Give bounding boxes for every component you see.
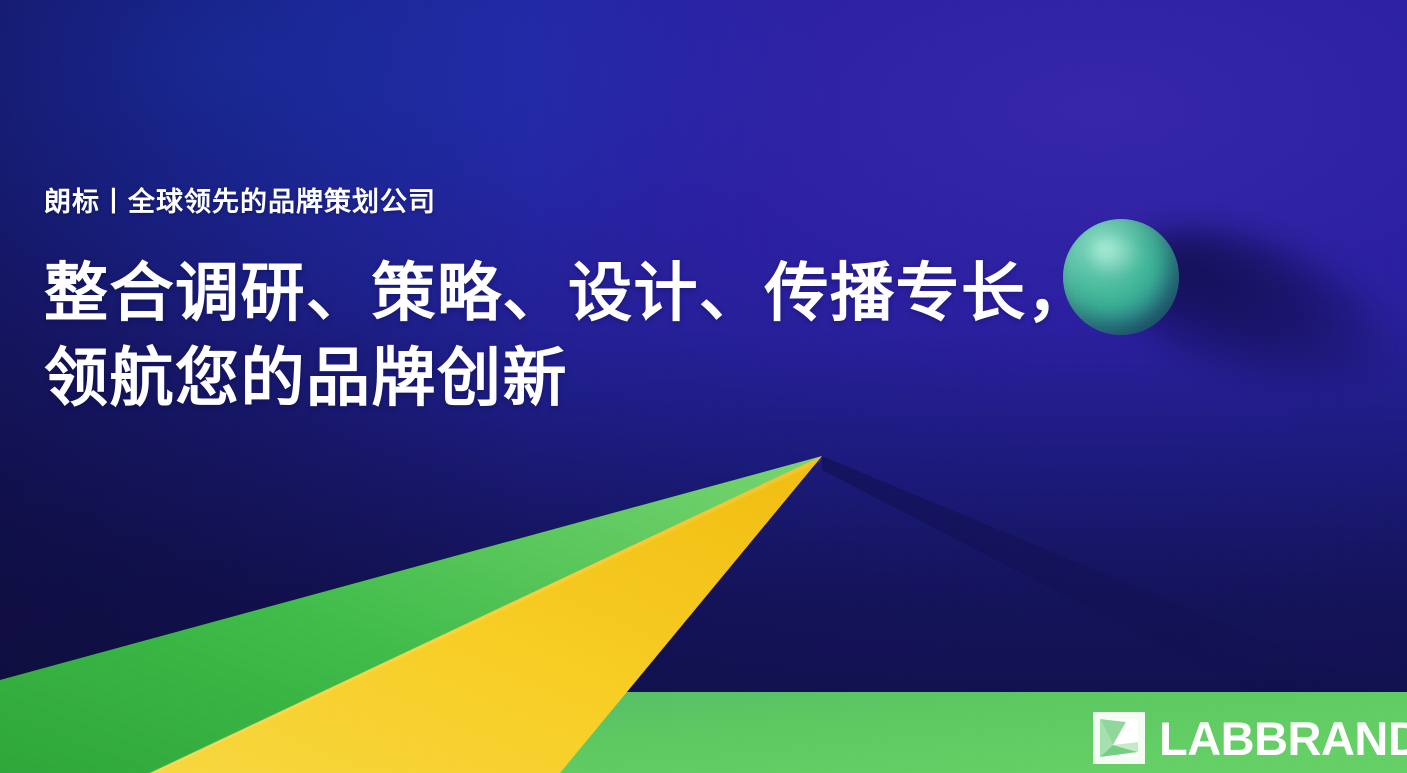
brand-logo[interactable]: LABBRAND <box>1093 712 1407 764</box>
eyebrow-text: 朗标丨全球领先的品牌策划公司 <box>44 186 1044 218</box>
brand-wordmark: LABBRAND <box>1159 715 1407 762</box>
headline-line-1: 整合调研、策略、设计、传播专长， <box>44 252 1044 336</box>
copy-block: 朗标丨全球领先的品牌策划公司 整合调研、策略、设计、传播专长， 领航您的品牌创新 <box>44 186 1044 421</box>
hero-banner: 朗标丨全球领先的品牌策划公司 整合调研、策略、设计、传播专长， 领航您的品牌创新… <box>0 0 1407 773</box>
headline-line-2: 领航您的品牌创新 <box>44 337 1044 421</box>
labbrand-prism-icon <box>1093 712 1145 764</box>
page-title: 整合调研、策略、设计、传播专长， 领航您的品牌创新 <box>44 252 1044 421</box>
